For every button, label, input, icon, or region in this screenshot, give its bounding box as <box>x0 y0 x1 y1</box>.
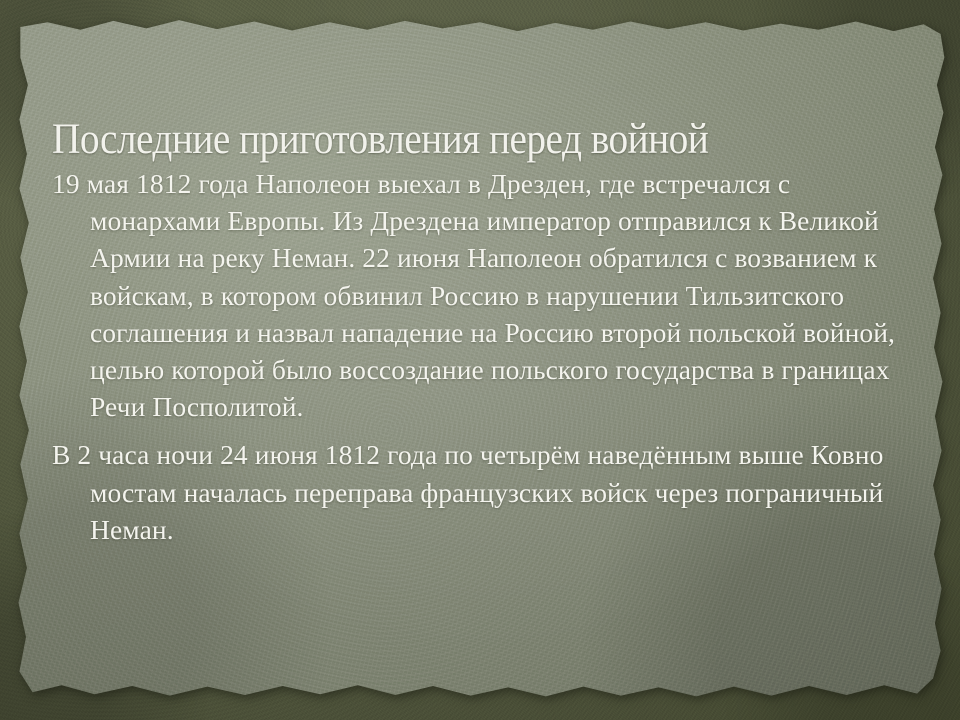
presentation-slide: Последние приготовления перед войной 19 … <box>0 0 960 720</box>
slide-title: Последние приготовления перед войной <box>52 115 839 165</box>
body-paragraph-1: 19 мая 1812 года Наполеон выехал в Дрезд… <box>52 165 912 425</box>
slide-content: Последние приготовления перед войной 19 … <box>0 0 960 720</box>
slide-body-text: 19 мая 1812 года Наполеон выехал в Дрезд… <box>52 165 912 548</box>
body-paragraph-2: В 2 часа ночи 24 июня 1812 года по четыр… <box>52 436 912 548</box>
